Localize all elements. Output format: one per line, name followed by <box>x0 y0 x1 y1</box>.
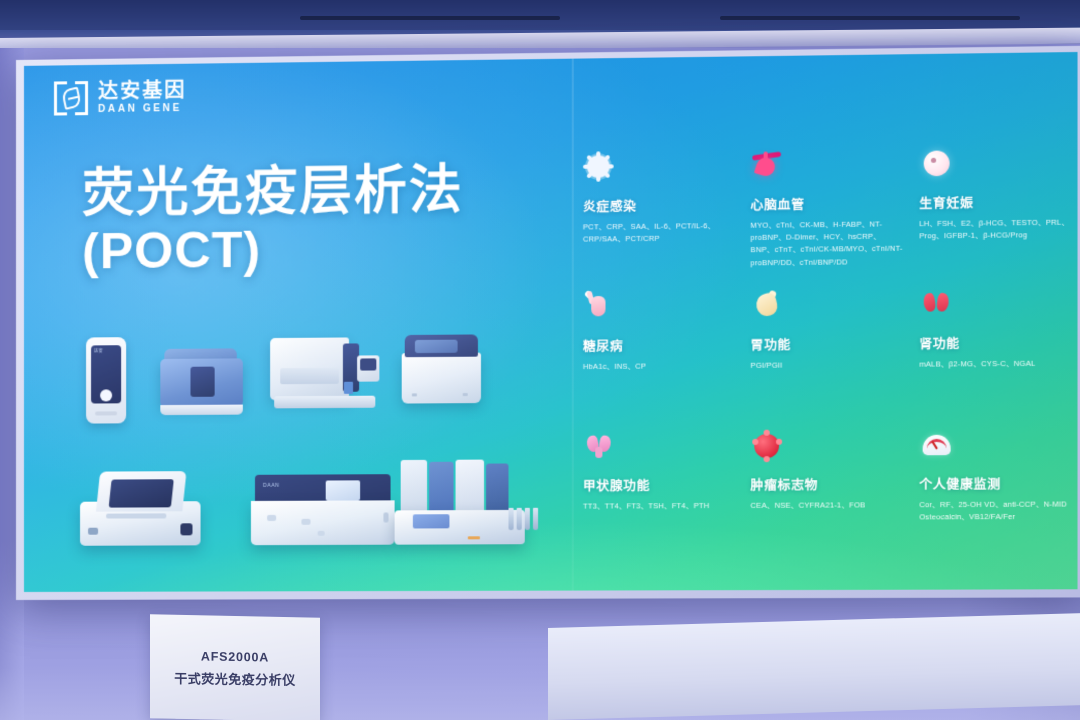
headline-line-1: 荧光免疫层析法 <box>82 161 464 224</box>
device-compact-analyzer-blue <box>160 348 243 415</box>
brand-logo: 达安基因 DAAN GENE <box>54 80 186 116</box>
device-modular-system <box>395 459 548 552</box>
category-fertility-pregnancy[interactable]: 生育妊娠 LH、FSH、E2、β-HCG、TESTO、PRL、Prog、IGFB… <box>913 142 1074 280</box>
category-title: 甲状腺功能 <box>583 474 736 494</box>
category-gastric-function[interactable]: 胃功能 PGI/PGII <box>744 284 904 421</box>
category-markers: TT3、TT4、FT3、TSH、FT4、PTH <box>583 500 736 513</box>
category-thyroid-function[interactable]: 甲状腺功能 TT3、TT4、FT3、TSH、FT4、PTH <box>577 426 736 562</box>
page-title: 荧光免疫层析法 (POCT) <box>82 161 464 281</box>
gauge-icon <box>919 429 954 464</box>
heart-icon <box>751 149 786 184</box>
virus-icon <box>583 151 618 186</box>
category-title: 炎症感染 <box>583 194 736 215</box>
baby-icon <box>919 147 954 182</box>
category-markers: PCT、CRP、SAA、IL-6、PCT/IL-6、CRP/SAA、PCT/CR… <box>583 220 736 246</box>
category-markers: Cor、RF、25-OH VD、anti-CCP、N-MID Osteocalc… <box>919 498 1074 524</box>
category-title: 个人健康监测 <box>919 473 1074 493</box>
logo-text-en: DAAN GENE <box>98 103 186 114</box>
category-diabetes[interactable]: 糖尿病 HbA1c、INS、CP <box>577 286 736 423</box>
exhibition-scene: 达安基因 DAAN GENE 荧光免疫层析法 (POCT) 达安 <box>0 0 1080 720</box>
category-title: 心脑血管 <box>751 193 905 214</box>
category-personal-health-monitoring[interactable]: 个人健康监测 Cor、RF、25-OH VD、anti-CCP、N-MID Os… <box>913 424 1074 561</box>
placard-description: 干式荧光免疫分析仪 <box>150 668 320 689</box>
device-cube-analyzer <box>402 334 481 409</box>
ceiling-slot <box>720 16 1020 20</box>
category-markers: CEA、NSE、CYFRA21-1、FOB <box>751 499 905 512</box>
device-mid-analyzer <box>270 337 381 418</box>
device-lineup: 达安 <box>64 320 549 574</box>
placard-model: AFS2000A <box>150 649 320 665</box>
display-counter <box>548 613 1080 720</box>
thyroid-icon <box>583 431 618 466</box>
tumor-cell-icon <box>751 430 786 465</box>
category-title: 肿瘤标志物 <box>751 474 905 494</box>
bracket-dna-logo-icon <box>54 81 88 115</box>
device-wide-bench-analyzer: DAAN <box>251 474 395 547</box>
category-markers: MYO、cTnI、CK-MB、H-FABP、NT-proBNP、D-Dimer、… <box>751 218 905 269</box>
screen-bezel: 达安基因 DAAN GENE 荧光免疫层析法 (POCT) 达安 <box>16 46 1080 600</box>
category-inflammation[interactable]: 炎症感染 PCT、CRP、SAA、IL-6、PCT/IL-6、CRP/SAA、P… <box>577 146 736 283</box>
stomach-icon <box>751 289 786 324</box>
category-title: 胃功能 <box>751 333 905 353</box>
category-tumor-markers[interactable]: 肿瘤标志物 CEA、NSE、CYFRA21-1、FOB <box>744 425 904 562</box>
category-title: 糖尿病 <box>583 334 736 354</box>
category-title: 肾功能 <box>919 332 1074 353</box>
product-placard: AFS2000A 干式荧光免疫分析仪 <box>150 614 320 720</box>
category-markers: LH、FSH、E2、β-HCG、TESTO、PRL、Prog、IGFBP-1、β… <box>919 216 1074 242</box>
ceiling-slot <box>300 16 560 20</box>
category-markers: PGI/PGII <box>751 359 905 373</box>
headline-line-2: (POCT) <box>82 220 464 281</box>
category-kidney-function[interactable]: 肾功能 mALB、β2-MG、CYS-C、NGAL <box>913 283 1074 421</box>
category-cardio-cerebrovascular[interactable]: 心脑血管 MYO、cTnI、CK-MB、H-FABP、NT-proBNP、D-D… <box>744 144 904 282</box>
device-handheld-reader: 达安 <box>86 337 126 423</box>
assay-category-grid: 炎症感染 PCT、CRP、SAA、IL-6、PCT/IL-6、CRP/SAA、P… <box>577 142 1075 562</box>
device-bench-reader-screen <box>80 471 201 550</box>
kidneys-icon <box>919 288 954 323</box>
logo-text-cn: 达安基因 <box>98 80 186 101</box>
category-markers: mALB、β2-MG、CYS-C、NGAL <box>919 357 1074 371</box>
finger-blood-drop-icon <box>583 291 618 326</box>
category-title: 生育妊娠 <box>919 191 1074 212</box>
led-display-screen[interactable]: 达安基因 DAAN GENE 荧光免疫层析法 (POCT) 达安 <box>16 46 1080 600</box>
ceiling-dark-band <box>0 0 1080 30</box>
category-markers: HbA1c、INS、CP <box>583 360 736 373</box>
